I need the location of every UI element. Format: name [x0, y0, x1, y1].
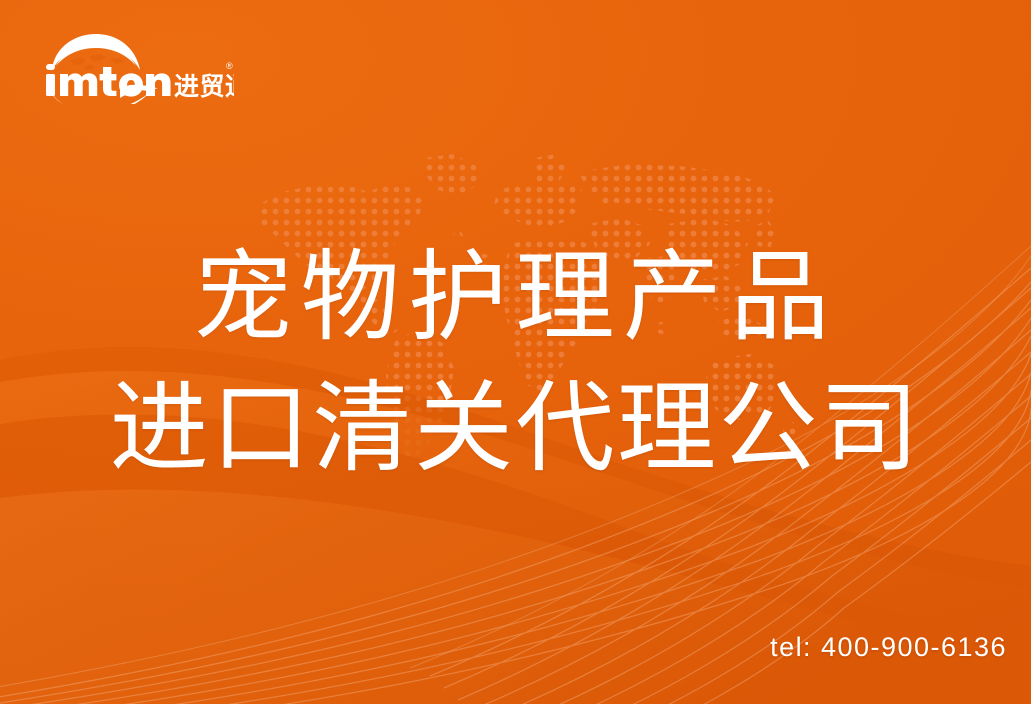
registered-mark: ® [226, 61, 233, 71]
contact-telephone[interactable]: tel: 400-900-6136 [770, 632, 1007, 663]
headline: 宠物护理产品 进口清关代理公司 [0, 232, 1031, 493]
globe-arc-icon [52, 34, 140, 70]
logo-chinese-name: 进贸通 [174, 72, 234, 101]
brand-logo[interactable]: 进贸通 ® [34, 26, 234, 104]
headline-line-2: 进口清关代理公司 [0, 363, 1031, 494]
logo-wordmark-shapes [46, 64, 171, 97]
promo-banner: 进贸通 ® 宠物护理产品 进口清关代理公司 tel: 400-900-6136 [0, 0, 1031, 704]
headline-line-1: 宠物护理产品 [0, 232, 1031, 363]
